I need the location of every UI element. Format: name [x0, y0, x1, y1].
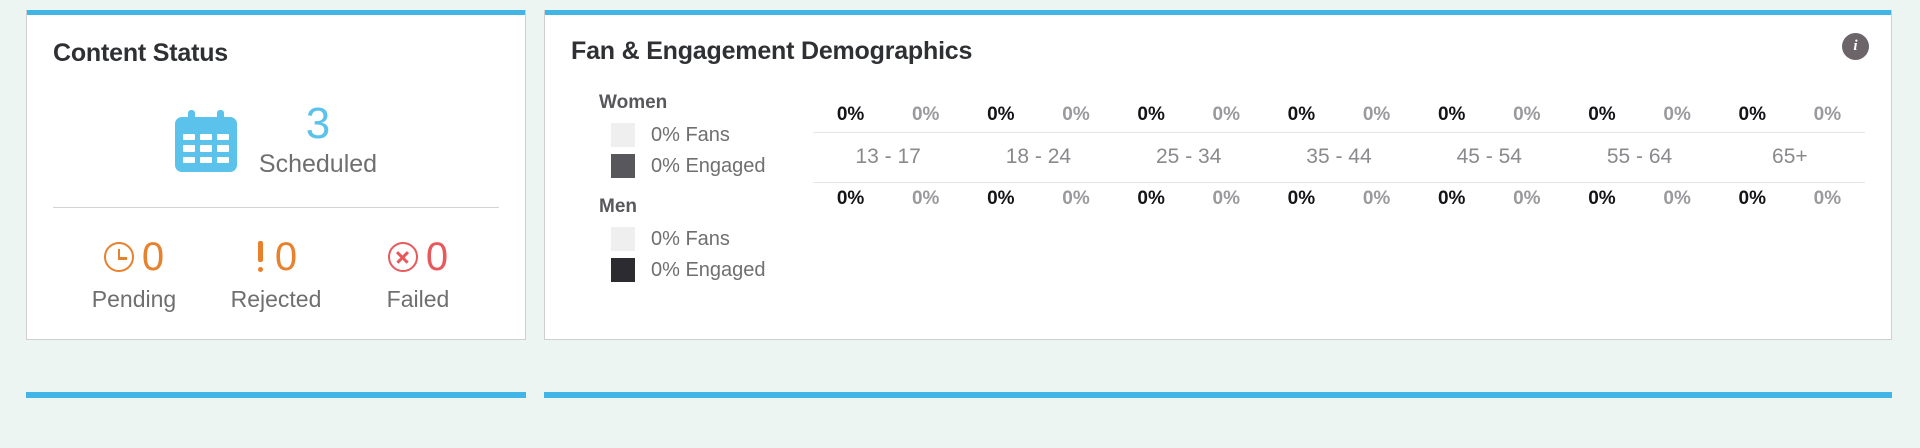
- men-fans-pct: 0%: [1564, 182, 1639, 216]
- legend-item-label: 0% Engaged: [651, 259, 766, 282]
- women-fans-pct: 0%: [1715, 98, 1790, 132]
- women-fans-swatch: [611, 123, 635, 147]
- legend-item-label: 0% Fans: [651, 228, 730, 251]
- women-engaged-pct: 0%: [888, 98, 963, 132]
- men-engaged-pct: 0%: [1189, 182, 1264, 216]
- legend-item-women-fans[interactable]: 0% Fans: [599, 123, 813, 147]
- women-engaged-pct: 0%: [1339, 98, 1414, 132]
- legend-item-label: 0% Engaged: [651, 155, 766, 178]
- status-item-failed[interactable]: 0 Failed: [347, 234, 489, 313]
- women-engaged-pct: 0%: [1640, 98, 1715, 132]
- women-fans-pct: 0%: [1414, 98, 1489, 132]
- legend-item-label: 0% Fans: [651, 124, 730, 147]
- age-bracket-label: 13 - 17: [813, 132, 963, 182]
- men-fans-pct: 0%: [1264, 182, 1339, 216]
- pending-count: 0: [142, 237, 164, 277]
- men-fans-pct: 0%: [1414, 182, 1489, 216]
- age-bracket-label: 25 - 34: [1114, 132, 1264, 182]
- men-fans-pct: 0%: [963, 182, 1038, 216]
- x-circle-icon: [388, 242, 418, 272]
- men-engaged-pct: 0%: [1489, 182, 1564, 216]
- women-engaged-swatch: [611, 154, 635, 178]
- men-engaged-pct: 0%: [1339, 182, 1414, 216]
- age-bracket-label: 18 - 24: [963, 132, 1113, 182]
- status-item-pending[interactable]: 0 Pending: [63, 234, 205, 313]
- content-status-card: Content Status 3 Scheduled 0: [26, 10, 526, 340]
- demographics-card: Fan & Engagement Demographics i Women 0%…: [544, 10, 1892, 340]
- men-fans-pct: 0%: [813, 182, 888, 216]
- exclamation-icon: [255, 241, 267, 273]
- age-bracket-label: 45 - 54: [1414, 132, 1564, 182]
- calendar-icon: [175, 110, 237, 172]
- info-icon[interactable]: i: [1842, 33, 1869, 60]
- men-engaged-pct: 0%: [1038, 182, 1113, 216]
- women-engaged-pct: 0%: [1189, 98, 1264, 132]
- age-bracket-label: 35 - 44: [1264, 132, 1414, 182]
- men-fans-swatch: [611, 227, 635, 251]
- failed-label: Failed: [347, 286, 489, 313]
- clock-icon: [104, 242, 134, 272]
- women-engaged-pct: 0%: [1790, 98, 1865, 132]
- men-fans-pct: 0%: [1114, 182, 1189, 216]
- age-bracket-label: 55 - 64: [1564, 132, 1714, 182]
- dashboard-page: Content Status 3 Scheduled 0: [0, 0, 1920, 448]
- women-fans-pct: 0%: [1564, 98, 1639, 132]
- next-card-accent-bar: [26, 392, 526, 398]
- status-counters: 0 Pending 0 Rejected 0 Failed: [53, 208, 499, 313]
- scheduled-count: 3: [259, 102, 377, 146]
- men-engaged-swatch: [611, 258, 635, 282]
- women-fans-pct: 0%: [963, 98, 1038, 132]
- legend-item-men-fans[interactable]: 0% Fans: [599, 227, 813, 251]
- men-engaged-pct: 0%: [1640, 182, 1715, 216]
- women-fans-pct: 0%: [1114, 98, 1189, 132]
- table-row-men: 0%0%0%0%0%0%0%0%0%0%0%0%0%0%: [813, 182, 1865, 216]
- legend-group-women: Women 0% Fans 0% Engaged: [599, 92, 813, 178]
- rejected-count: 0: [275, 237, 297, 277]
- legend-item-women-engaged[interactable]: 0% Engaged: [599, 154, 813, 178]
- men-engaged-pct: 0%: [1790, 182, 1865, 216]
- scheduled-label: Scheduled: [259, 150, 377, 179]
- status-item-rejected[interactable]: 0 Rejected: [205, 234, 347, 313]
- women-engaged-pct: 0%: [1489, 98, 1564, 132]
- legend-group-label: Women: [599, 92, 813, 114]
- legend-group-men: Men 0% Fans 0% Engaged: [599, 196, 813, 282]
- demographics-table: 0%0%0%0%0%0%0%0%0%0%0%0%0%0% 13 - 1718 -…: [813, 98, 1865, 216]
- women-fans-pct: 0%: [1264, 98, 1339, 132]
- men-fans-pct: 0%: [1715, 182, 1790, 216]
- men-engaged-pct: 0%: [888, 182, 963, 216]
- demographics-grid: 0%0%0%0%0%0%0%0%0%0%0%0%0%0% 13 - 1718 -…: [813, 92, 1865, 300]
- women-engaged-pct: 0%: [1038, 98, 1113, 132]
- women-fans-pct: 0%: [813, 98, 888, 132]
- legend-group-label: Men: [599, 196, 813, 218]
- pending-label: Pending: [63, 286, 205, 313]
- failed-count: 0: [426, 237, 448, 277]
- next-card-accent-bar: [544, 392, 1892, 398]
- rejected-label: Rejected: [205, 286, 347, 313]
- table-row-age-brackets: 13 - 1718 - 2425 - 3435 - 4445 - 5455 - …: [813, 132, 1865, 182]
- legend-item-men-engaged[interactable]: 0% Engaged: [599, 258, 813, 282]
- table-row-women: 0%0%0%0%0%0%0%0%0%0%0%0%0%0%: [813, 98, 1865, 132]
- page-title: Content Status: [53, 39, 499, 68]
- age-bracket-label: 65+: [1715, 132, 1865, 182]
- scheduled-summary: 3 Scheduled: [53, 102, 499, 179]
- demographics-title: Fan & Engagement Demographics: [571, 37, 1865, 66]
- demographics-legend: Women 0% Fans 0% Engaged Men: [571, 92, 813, 300]
